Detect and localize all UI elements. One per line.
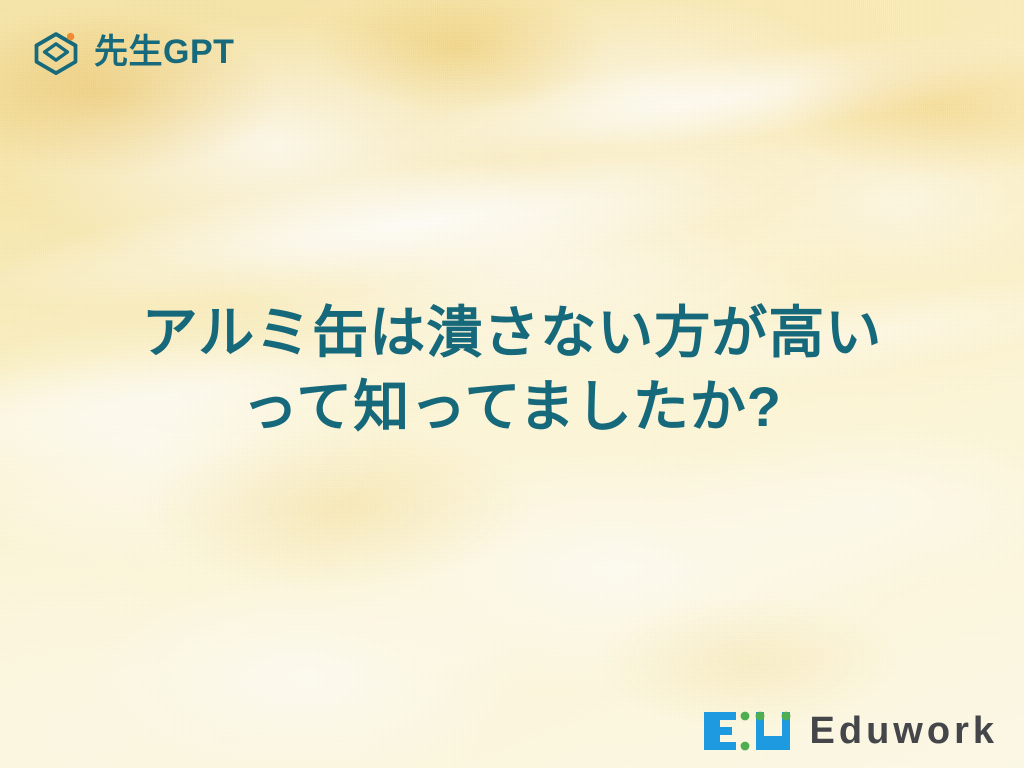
graduation-cap-hexagon-icon <box>30 26 82 78</box>
eduwork-ew-monogram-icon <box>702 706 794 756</box>
brand-lockup: 先生GPT <box>30 26 234 78</box>
headline-line-1: アルミ缶は潰さない方が高い <box>40 296 984 370</box>
headline-line-2: って知ってましたか? <box>40 370 984 444</box>
footer-logo-lockup: Eduwork <box>702 706 998 756</box>
footer-logo-text: Eduwork <box>810 712 998 750</box>
brand-name: 先生GPT <box>94 35 234 69</box>
slide-canvas: 先生GPT アルミ缶は潰さない方が高い って知ってましたか? Eduwork <box>0 0 1024 768</box>
page-title: アルミ缶は潰さない方が高い って知ってましたか? <box>0 296 1024 444</box>
orange-dot-icon <box>67 33 74 40</box>
